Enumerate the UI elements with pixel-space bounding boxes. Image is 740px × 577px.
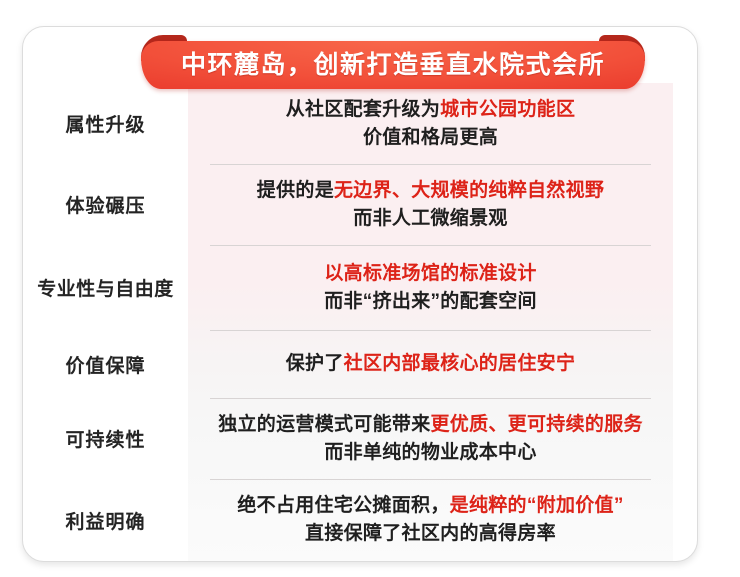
info-card: 属性升级 体验碾压 专业性与自由度 价值保障 可持续性 利益明确 从社区配套升级… [22, 26, 698, 562]
table-row: 以高标准场馆的标准设计而非“挤出来”的配套空间 [188, 245, 673, 330]
banner-title: 中环麓岛，创新打造垂直水院式会所 [181, 53, 605, 78]
body-text: 提供的是 [257, 180, 334, 201]
body-text: 从社区配套升级为 [286, 99, 440, 120]
ribbon-body: 中环麓岛，创新打造垂直水院式会所 [141, 41, 645, 89]
row-text-line-1: 绝不占用住宅公摊面积，是纯粹的“附加价值” [237, 492, 623, 520]
row-label-1: 体验碾压 [23, 164, 188, 245]
highlight-text: 是纯粹的“附加价值” [450, 495, 624, 516]
body-text: 独立的运营模式可能带来 [218, 414, 430, 435]
table-row: 从社区配套升级为城市公园功能区价值和格局更高 [188, 83, 673, 164]
row-label-2: 专业性与自由度 [23, 245, 188, 330]
row-label-4: 可持续性 [23, 398, 188, 479]
highlight-text: 以高标准场馆的标准设计 [324, 263, 536, 284]
body-text: 绝不占用住宅公摊面积， [237, 495, 449, 516]
row-label-0: 属性升级 [23, 83, 188, 164]
label-column: 属性升级 体验碾压 专业性与自由度 价值保障 可持续性 利益明确 [23, 83, 188, 561]
banner-ribbon: 中环麓岛，创新打造垂直水院式会所 [141, 35, 645, 89]
table-row: 保护了社区内部最核心的居住安宁 [188, 330, 673, 398]
highlight-text: 社区内部最核心的居住安宁 [344, 353, 576, 374]
body-text: 而非“挤出来”的配套空间 [324, 291, 537, 312]
comparison-table: 属性升级 体验碾压 专业性与自由度 价值保障 可持续性 利益明确 从社区配套升级… [23, 83, 699, 561]
poster-root: 属性升级 体验碾压 专业性与自由度 价值保障 可持续性 利益明确 从社区配套升级… [0, 0, 740, 577]
body-text: 直接保障了社区内的高得房率 [305, 523, 556, 544]
row-text-line-1: 提供的是无边界、大规模的纯粹自然视野 [257, 177, 604, 205]
body-text: 价值和格局更高 [363, 127, 498, 148]
row-text-line-2: 而非人工微缩景观 [353, 205, 507, 233]
body-text: 保护了 [286, 353, 344, 374]
row-text-line-2: 而非“挤出来”的配套空间 [324, 288, 537, 316]
row-text-line-1: 从社区配套升级为城市公园功能区 [286, 96, 576, 124]
row-text-line-1: 以高标准场馆的标准设计 [324, 260, 536, 288]
row-text-line-1: 独立的运营模式可能带来更优质、更可持续的服务 [218, 411, 643, 439]
body-text: 而非人工微缩景观 [353, 208, 507, 229]
row-label-3: 价值保障 [23, 330, 188, 398]
content-column: 从社区配套升级为城市公园功能区价值和格局更高 提供的是无边界、大规模的纯粹自然视… [188, 83, 673, 561]
highlight-text: 更优质、更可持续的服务 [431, 414, 643, 435]
row-text-line-2: 直接保障了社区内的高得房率 [305, 520, 556, 548]
body-text: 而非单纯的物业成本中心 [324, 442, 536, 463]
table-row: 独立的运营模式可能带来更优质、更可持续的服务而非单纯的物业成本中心 [188, 398, 673, 479]
table-row: 提供的是无边界、大规模的纯粹自然视野而非人工微缩景观 [188, 164, 673, 245]
highlight-text: 无边界、大规模的纯粹自然视野 [334, 180, 604, 201]
row-text-line-2: 而非单纯的物业成本中心 [324, 439, 536, 467]
row-text-line-1: 保护了社区内部最核心的居住安宁 [286, 350, 576, 378]
table-row: 绝不占用住宅公摊面积，是纯粹的“附加价值”直接保障了社区内的高得房率 [188, 479, 673, 561]
row-text-line-2: 价值和格局更高 [363, 124, 498, 152]
row-label-5: 利益明确 [23, 479, 188, 561]
highlight-text: 城市公园功能区 [440, 99, 575, 120]
